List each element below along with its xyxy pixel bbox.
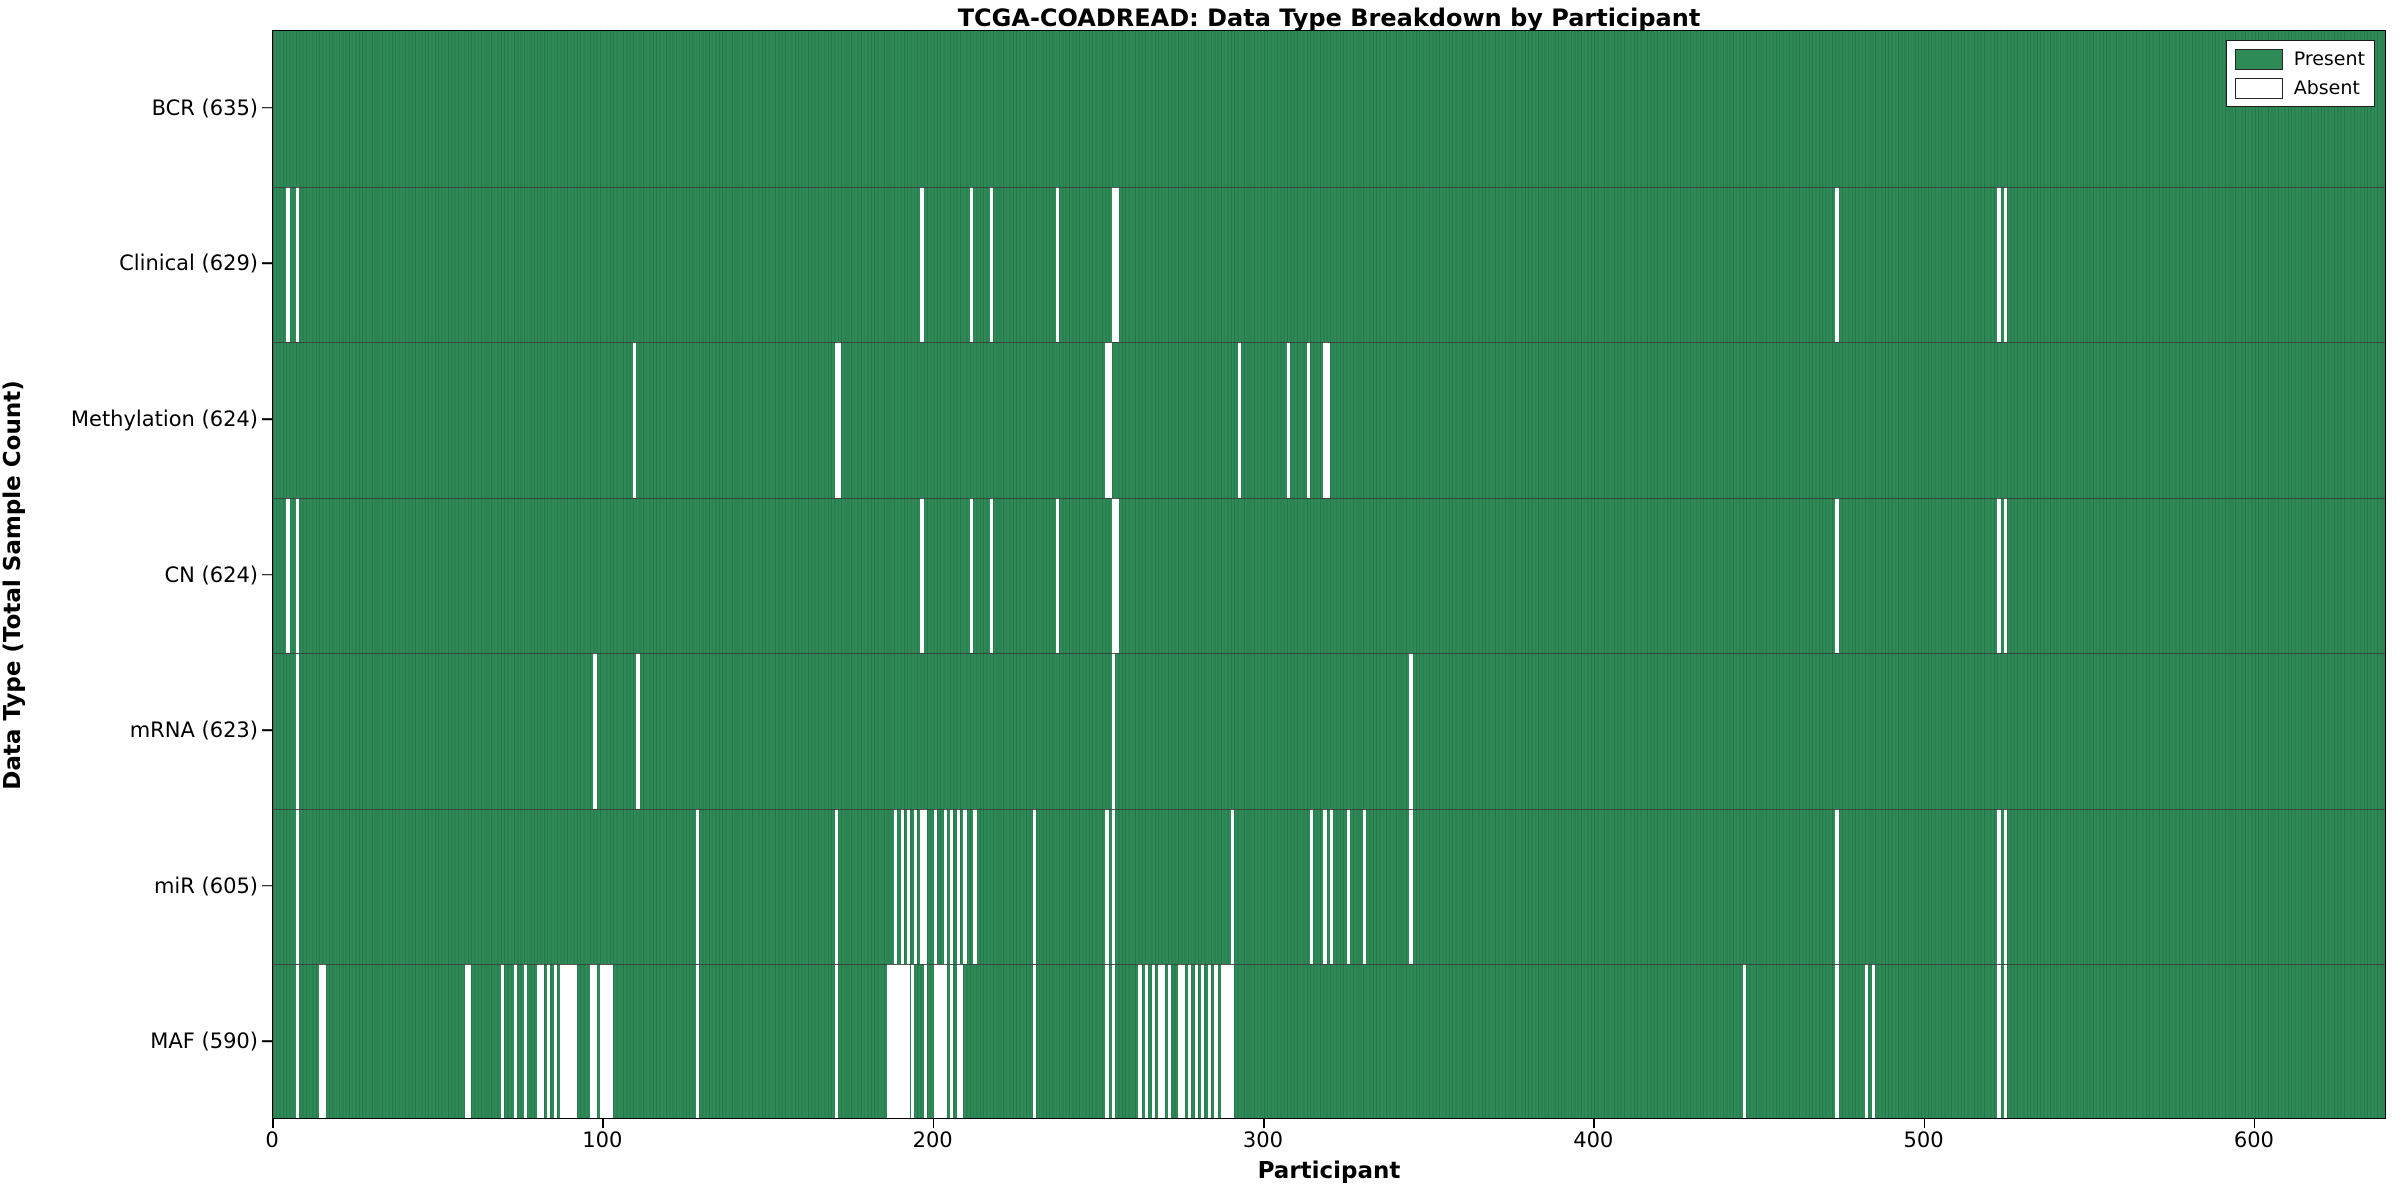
x-tick-label: 600 [2234, 1128, 2274, 1152]
heatmap-cell-absent [1363, 809, 1366, 965]
heatmap-cell-absent [1330, 809, 1333, 965]
heatmap-cell-absent [901, 809, 904, 965]
heatmap-cell-absent [934, 809, 937, 965]
y-tick-mark [262, 729, 272, 731]
heatmap-cell-absent [593, 964, 596, 1119]
x-tick-label: 300 [1243, 1128, 1283, 1152]
heatmap-cell-absent [1208, 964, 1211, 1119]
y-tick-label-mir: miR (605) [154, 874, 258, 898]
heatmap-cell-absent [957, 809, 960, 965]
legend-label: Absent [2294, 79, 2360, 98]
heatmap-cell-absent [286, 498, 289, 654]
x-tick-mark [1924, 1119, 1926, 1128]
heatmap-cell-absent [574, 964, 577, 1119]
heatmap-row-separator [273, 498, 2385, 499]
heatmap-cell-absent [950, 809, 953, 965]
heatmap-row-mir [273, 809, 2385, 965]
legend: PresentAbsent [2226, 40, 2375, 107]
heatmap-cell-absent [960, 964, 963, 1119]
heatmap-cell-absent [633, 342, 636, 498]
x-tick-label: 200 [913, 1128, 953, 1152]
x-axis-tick-labels: 0100200300400500600 [272, 1128, 2386, 1162]
heatmap-row-separator [273, 187, 2385, 188]
figure-canvas: TCGA-COADREAD: Data Type Breakdown by Pa… [0, 0, 2400, 1200]
heatmap-cell-absent [1323, 809, 1326, 965]
heatmap-cell-absent [1997, 964, 2000, 1119]
heatmap-cell-absent [1231, 964, 1234, 1119]
heatmap-cell-absent [1115, 187, 1118, 343]
heatmap-plot-area: PresentAbsent [272, 30, 2386, 1119]
heatmap-cell-absent [1056, 187, 1059, 343]
legend-item-present: Present [2235, 47, 2365, 71]
heatmap-cell-absent [1109, 342, 1112, 498]
heatmap-row-separator [273, 653, 2385, 654]
heatmap-cell-absent [1056, 498, 1059, 654]
heatmap-cell-absent [2004, 498, 2007, 654]
heatmap-cell-absent [2004, 964, 2007, 1119]
heatmap-cell-absent [1835, 187, 1838, 343]
heatmap-cell-absent [914, 809, 917, 965]
heatmap-cell-absent [924, 809, 927, 965]
heatmap-cell-absent [593, 653, 596, 809]
heatmap-cell-absent [1195, 964, 1198, 1119]
y-axis-tick-labels: BCR (635)Clinical (629)Methylation (624)… [0, 30, 258, 1119]
heatmap-cell-absent [1409, 653, 1412, 809]
heatmap-cell-absent [1287, 342, 1290, 498]
heatmap-cell-absent [970, 498, 973, 654]
heatmap-cell-absent [1201, 964, 1204, 1119]
heatmap-cell-absent [1997, 809, 2000, 965]
heatmap-cell-absent [950, 964, 953, 1119]
heatmap-cell-absent [1327, 342, 1330, 498]
heatmap-cell-absent [1168, 964, 1171, 1119]
heatmap-cell-absent [1347, 809, 1350, 965]
legend-swatch-icon [2235, 78, 2283, 99]
heatmap-cell-absent [554, 964, 557, 1119]
heatmap-cell-absent [296, 964, 299, 1119]
y-tick-label-mrna: mRNA (623) [130, 718, 258, 742]
y-tick-label-cn: CN (624) [164, 563, 258, 587]
heatmap-cell-absent [1115, 498, 1118, 654]
y-tick-mark [262, 263, 272, 265]
heatmap-cell-absent [838, 342, 841, 498]
heatmap-cell-absent [894, 809, 897, 965]
heatmap-cell-absent [296, 187, 299, 343]
x-tick-mark [1263, 1119, 1265, 1128]
x-tick-label: 400 [1573, 1128, 1613, 1152]
heatmap-cell-absent [973, 809, 976, 965]
y-tick-label-bcr: BCR (635) [152, 96, 258, 120]
heatmap-row-clinical [273, 187, 2385, 343]
heatmap-row-cn [273, 498, 2385, 654]
heatmap-cell-absent [286, 187, 289, 343]
heatmap-cell-absent [1152, 964, 1155, 1119]
heatmap-cell-absent [944, 809, 947, 965]
heatmap-cell-absent [1872, 964, 1875, 1119]
y-tick-mark [262, 418, 272, 420]
heatmap-cell-absent [911, 964, 914, 1119]
heatmap-cell-absent [963, 809, 966, 965]
heatmap-cell-absent [1033, 809, 1036, 965]
x-axis-title: Participant [272, 1158, 2386, 1184]
heatmap-cell-absent [907, 809, 910, 965]
y-tick-label-maf: MAF (590) [150, 1029, 258, 1053]
heatmap-cell-absent [1310, 809, 1313, 965]
heatmap-cell-absent [514, 964, 517, 1119]
heatmap-cell-absent [1865, 964, 1868, 1119]
heatmap-cell-absent [541, 964, 544, 1119]
heatmap-cell-absent [970, 187, 973, 343]
heatmap-cell-absent [2004, 187, 2007, 343]
y-tick-label-clinical: Clinical (629) [119, 251, 258, 275]
legend-label: Present [2294, 50, 2365, 69]
heatmap-cell-absent [636, 653, 639, 809]
heatmap-cell-absent [296, 498, 299, 654]
y-tick-mark [262, 885, 272, 887]
heatmap-cell-absent [1743, 964, 1746, 1119]
heatmap-cell-absent [920, 187, 923, 343]
heatmap-cell-absent [468, 964, 471, 1119]
heatmap-cell-absent [696, 809, 699, 965]
heatmap-cell-absent [696, 964, 699, 1119]
heatmap-cell-absent [1105, 964, 1108, 1119]
heatmap-cell-absent [1033, 964, 1036, 1119]
heatmap-row-separator [273, 809, 2385, 810]
x-tick-mark [1593, 1119, 1595, 1128]
heatmap-cell-absent [547, 964, 550, 1119]
x-tick-label: 100 [582, 1128, 622, 1152]
heatmap-cell-absent [1112, 809, 1115, 965]
heatmap-cell-absent [501, 964, 504, 1119]
heatmap-cell-absent [1112, 964, 1115, 1119]
heatmap-cell-absent [1835, 498, 1838, 654]
heatmap-cell-absent [1214, 964, 1217, 1119]
heatmap-cell-absent [323, 964, 326, 1119]
heatmap-row-separator [273, 342, 2385, 343]
heatmap-cell-absent [1997, 187, 2000, 343]
heatmap-cell-absent [990, 187, 993, 343]
heatmap-row-mrna [273, 653, 2385, 809]
heatmap-row-bcr [273, 31, 2385, 187]
heatmap-cell-absent [1112, 653, 1115, 809]
heatmap-cell-absent [924, 964, 927, 1119]
heatmap-cell-absent [1307, 342, 1310, 498]
heatmap-cell-absent [1409, 809, 1412, 965]
heatmap-cell-absent [1162, 964, 1165, 1119]
heatmap-cell-absent [296, 809, 299, 965]
heatmap-cell-absent [990, 498, 993, 654]
page-title: TCGA-COADREAD: Data Type Breakdown by Pa… [272, 4, 2386, 32]
heatmap-cell-absent [920, 498, 923, 654]
heatmap-cell-absent [835, 964, 838, 1119]
heatmap-row-separator [273, 964, 2385, 965]
heatmap-cell-absent [1105, 809, 1108, 965]
heatmap-cell-absent [1188, 964, 1191, 1119]
x-tick-mark [602, 1119, 604, 1128]
heatmap-cell-absent [1835, 809, 1838, 965]
heatmap-cell-absent [2004, 809, 2007, 965]
y-tick-mark [262, 1040, 272, 1042]
x-tick-label: 0 [265, 1128, 278, 1152]
heatmap-cell-absent [835, 809, 838, 965]
heatmap-cell-absent [296, 653, 299, 809]
y-tick-mark [262, 574, 272, 576]
x-tick-mark [933, 1119, 935, 1128]
x-tick-mark [272, 1119, 274, 1128]
heatmap-cells [273, 31, 2385, 1118]
heatmap-cell-absent [1231, 809, 1234, 965]
x-tick-mark [2254, 1119, 2256, 1128]
heatmap-cell-absent [1181, 964, 1184, 1119]
legend-swatch-icon [2235, 49, 2283, 70]
heatmap-cell-absent [1238, 342, 1241, 498]
heatmap-cell-absent [1835, 964, 1838, 1119]
x-tick-label: 500 [1904, 1128, 1944, 1152]
y-tick-label-methylation: Methylation (624) [71, 407, 258, 431]
heatmap-cell-absent [610, 964, 613, 1119]
heatmap-cell-absent [1997, 498, 2000, 654]
legend-item-absent: Absent [2235, 76, 2365, 100]
heatmap-cell-absent [524, 964, 527, 1119]
heatmap-cell-absent [944, 964, 947, 1119]
y-tick-mark [262, 107, 272, 109]
heatmap-cell-absent [1138, 964, 1141, 1119]
heatmap-cell-absent [1145, 964, 1148, 1119]
